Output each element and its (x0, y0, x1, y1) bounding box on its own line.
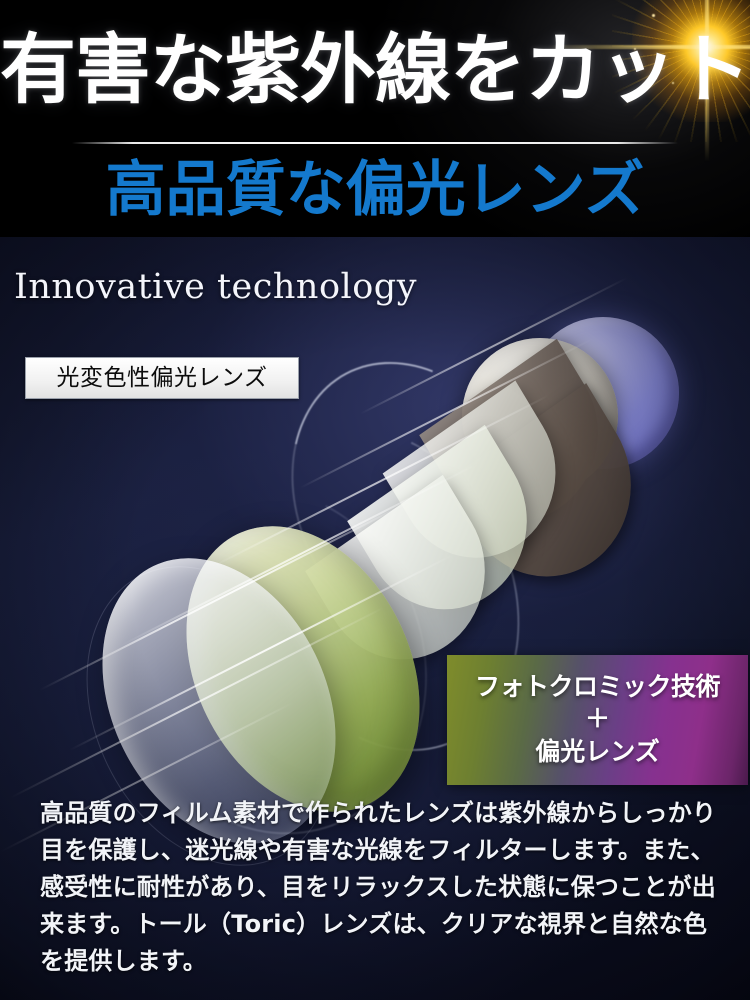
photochromic-lens-chip: 光変色性偏光レンズ (25, 357, 299, 399)
dark-brown-film-2 (444, 383, 664, 612)
callout-plus-sign: ＋ (585, 704, 610, 734)
purple-disc-edge (527, 317, 679, 469)
section-eyebrow: Innovative technology (14, 266, 417, 308)
light-streak (10, 606, 385, 798)
subheadline: 高品質な偏光レンズ (0, 150, 750, 230)
header-band: 有害な紫外線をカット 高品質な偏光レンズ (0, 0, 750, 237)
light-streak (210, 395, 549, 569)
promo-banner: 有害な紫外線をカット 高品質な偏光レンズ (0, 0, 750, 1000)
callout-line-3: 偏光レンズ (535, 734, 660, 770)
light-streak (120, 464, 477, 647)
photochromic-lens-chip-label: 光変色性偏光レンズ (56, 367, 267, 390)
description-paragraph: 高品質のフィルム素材で作られたレンズは紫外線からしっかり目を保護し、迷光線や有害… (40, 795, 718, 980)
purple-coating-disc (527, 317, 679, 469)
gray-coating-disc (462, 338, 618, 494)
gray-disc-edge (462, 338, 618, 494)
light-streak (40, 498, 415, 690)
clear-film-1 (383, 381, 586, 591)
callout-line-1: フォトクロミック技術 (475, 670, 720, 704)
light-streak (70, 554, 454, 751)
headline: 有害な紫外線をカット (0, 12, 750, 128)
header-divider (72, 142, 678, 144)
technology-callout-box: フォトクロミック技術 ＋ 偏光レンズ (447, 655, 748, 785)
clear-film-2 (347, 425, 558, 643)
dark-brown-film-1 (419, 339, 629, 556)
light-streak (300, 337, 595, 489)
